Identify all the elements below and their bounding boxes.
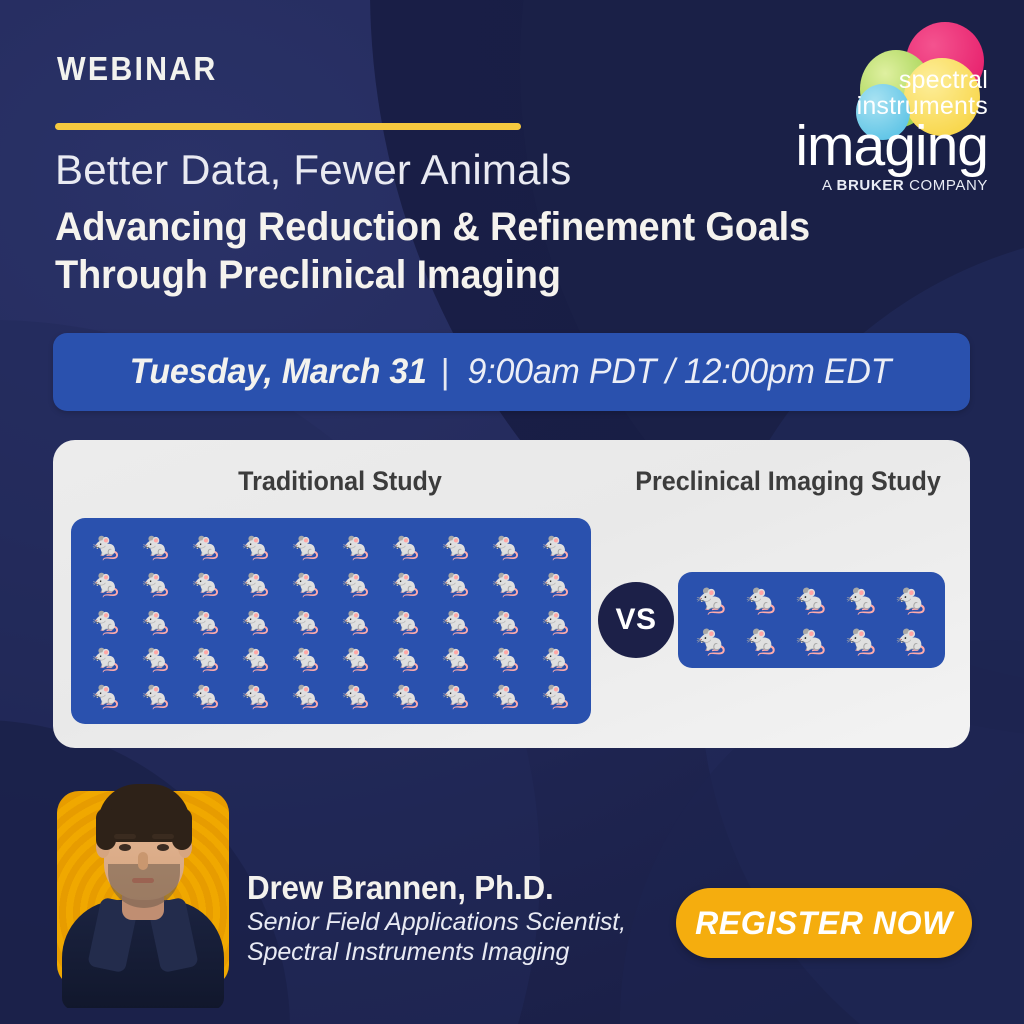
webinar-promo-graphic: spectral instruments imaging A BRUKER CO… (0, 0, 1024, 1024)
portrait-hair-side-left (96, 808, 116, 850)
mouse-icon: 🐁 (481, 645, 531, 672)
logo-tagline: A BRUKER COMPANY (758, 177, 988, 195)
preclinical-study-mouse-grid: 🐁🐁🐁🐁🐁🐁🐁🐁🐁🐁 (678, 572, 945, 668)
mouse-icon: 🐁 (281, 682, 331, 709)
speaker-role-line-2: Spectral Instruments Imaging (247, 938, 569, 966)
schedule-date: Tuesday, March 31 (130, 352, 427, 392)
mouse-icon: 🐁 (231, 608, 281, 635)
portrait-eye-right (157, 844, 169, 851)
mouse-icon: 🐁 (381, 570, 431, 597)
logo-line-spectral: spectral (758, 68, 988, 93)
mouse-icon: 🐁 (231, 570, 281, 597)
mouse-icon: 🐁 (381, 608, 431, 635)
mouse-icon: 🐁 (431, 533, 481, 560)
mouse-row: 🐁🐁🐁🐁🐁🐁🐁🐁🐁🐁 (77, 640, 585, 677)
mouse-icon: 🐁 (281, 645, 331, 672)
speaker-role: Senior Field Applications Scientist, Spe… (247, 907, 667, 967)
versus-badge: VS (598, 582, 674, 658)
mouse-icon: 🐁 (231, 682, 281, 709)
mouse-icon: 🐁 (131, 608, 181, 635)
mouse-icon: 🐁 (737, 585, 787, 615)
mouse-row: 🐁🐁🐁🐁🐁🐁🐁🐁🐁🐁 (77, 602, 585, 639)
mouse-icon: 🐁 (531, 645, 581, 672)
mouse-icon: 🐁 (81, 570, 131, 597)
portrait-brow-right (152, 834, 174, 839)
accent-rule-divider (55, 123, 521, 130)
schedule-banner: Tuesday, March 31 | 9:00am PDT / 12:00pm… (53, 333, 970, 411)
mouse-icon: 🐁 (837, 626, 887, 656)
mouse-icon: 🐁 (481, 570, 531, 597)
register-now-button[interactable]: REGISTER NOW (676, 888, 972, 958)
logo-wordmark: spectral instruments imaging A BRUKER CO… (758, 68, 988, 195)
mouse-icon: 🐁 (81, 608, 131, 635)
mouse-icon: 🐁 (787, 626, 837, 656)
logo-line-imaging: imaging (758, 118, 988, 174)
webinar-title: Advancing Reduction & Refinement Goals T… (55, 203, 910, 299)
eyebrow-label: WEBINAR (57, 50, 217, 88)
mouse-icon: 🐁 (331, 608, 381, 635)
preclinical-study-heading: Preclinical Imaging Study (635, 465, 942, 497)
mouse-row: 🐁🐁🐁🐁🐁 (683, 620, 940, 661)
mouse-icon: 🐁 (181, 682, 231, 709)
mouse-icon: 🐁 (331, 570, 381, 597)
mouse-row: 🐁🐁🐁🐁🐁🐁🐁🐁🐁🐁 (77, 528, 585, 565)
study-comparison-card: Traditional Study Preclinical Imaging St… (53, 440, 970, 748)
mouse-icon: 🐁 (381, 682, 431, 709)
schedule-separator: | (440, 353, 449, 392)
traditional-study-mouse-grid: 🐁🐁🐁🐁🐁🐁🐁🐁🐁🐁🐁🐁🐁🐁🐁🐁🐁🐁🐁🐁🐁🐁🐁🐁🐁🐁🐁🐁🐁🐁🐁🐁🐁🐁🐁🐁🐁🐁🐁🐁… (71, 518, 591, 724)
logo-tagline-suffix: COMPANY (904, 177, 988, 194)
mouse-icon: 🐁 (887, 626, 937, 656)
mouse-icon: 🐁 (231, 533, 281, 560)
mouse-icon: 🐁 (131, 570, 181, 597)
mouse-icon: 🐁 (381, 645, 431, 672)
mouse-icon: 🐁 (481, 682, 531, 709)
mouse-icon: 🐁 (131, 682, 181, 709)
spectral-instruments-imaging-logo: spectral instruments imaging A BRUKER CO… (758, 22, 988, 192)
mouse-icon: 🐁 (481, 533, 531, 560)
mouse-icon: 🐁 (531, 533, 581, 560)
mouse-icon: 🐁 (331, 682, 381, 709)
mouse-icon: 🐁 (431, 645, 481, 672)
portrait-brow-left (114, 834, 136, 839)
schedule-time: 9:00am PDT / 12:00pm EDT (468, 352, 892, 392)
mouse-row: 🐁🐁🐁🐁🐁🐁🐁🐁🐁🐁 (77, 677, 585, 714)
portrait-eye-left (119, 844, 131, 851)
mouse-row: 🐁🐁🐁🐁🐁 (683, 579, 940, 620)
mouse-icon: 🐁 (181, 608, 231, 635)
mouse-icon: 🐁 (531, 608, 581, 635)
mouse-icon: 🐁 (231, 645, 281, 672)
mouse-icon: 🐁 (281, 608, 331, 635)
mouse-icon: 🐁 (431, 608, 481, 635)
mouse-icon: 🐁 (181, 570, 231, 597)
mouse-icon: 🐁 (331, 533, 381, 560)
speaker-name: Drew Brannen, Ph.D. (247, 869, 553, 907)
mouse-icon: 🐁 (131, 533, 181, 560)
mouse-icon: 🐁 (281, 570, 331, 597)
mouse-icon: 🐁 (81, 682, 131, 709)
mouse-icon: 🐁 (281, 533, 331, 560)
portrait-nose (138, 852, 148, 870)
mouse-icon: 🐁 (331, 645, 381, 672)
mouse-icon: 🐁 (81, 645, 131, 672)
mouse-icon: 🐁 (787, 585, 837, 615)
logo-tagline-brand: BRUKER (837, 177, 905, 194)
speaker-portrait (62, 768, 224, 1008)
mouse-icon: 🐁 (887, 585, 937, 615)
mouse-icon: 🐁 (381, 533, 431, 560)
mouse-icon: 🐁 (431, 682, 481, 709)
mouse-icon: 🐁 (737, 626, 787, 656)
mouse-icon: 🐁 (531, 570, 581, 597)
mouse-icon: 🐁 (181, 533, 231, 560)
mouse-icon: 🐁 (131, 645, 181, 672)
mouse-icon: 🐁 (687, 626, 737, 656)
logo-tagline-prefix: A (822, 177, 837, 194)
portrait-mouth (132, 878, 154, 883)
mouse-icon: 🐁 (481, 608, 531, 635)
mouse-icon: 🐁 (837, 585, 887, 615)
mouse-icon: 🐁 (531, 682, 581, 709)
mouse-icon: 🐁 (687, 585, 737, 615)
mouse-icon: 🐁 (81, 533, 131, 560)
portrait-hair-side-right (172, 808, 192, 850)
speaker-role-line-1: Senior Field Applications Scientist, (247, 908, 626, 936)
traditional-study-heading: Traditional Study (140, 465, 540, 497)
mouse-icon: 🐁 (431, 570, 481, 597)
webinar-subtitle: Better Data, Fewer Animals (55, 146, 571, 194)
mouse-icon: 🐁 (181, 645, 231, 672)
mouse-row: 🐁🐁🐁🐁🐁🐁🐁🐁🐁🐁 (77, 565, 585, 602)
